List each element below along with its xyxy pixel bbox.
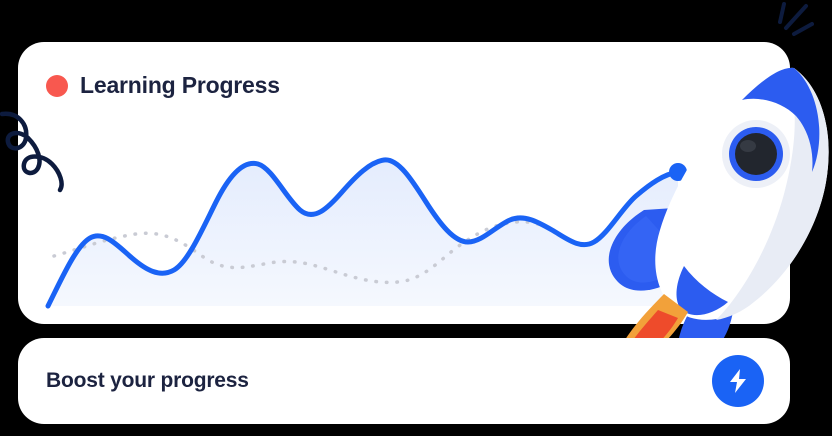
boost-label: Boost your progress bbox=[46, 369, 249, 393]
chart-area-fill bbox=[48, 160, 678, 306]
card-header: Learning Progress bbox=[46, 72, 280, 99]
boost-card: Boost your progress bbox=[18, 338, 790, 424]
chart-end-marker[interactable] bbox=[669, 163, 687, 181]
page-title: Learning Progress bbox=[80, 72, 280, 99]
chart-svg bbox=[42, 138, 766, 310]
status-dot-icon bbox=[46, 75, 68, 97]
lightning-bolt-icon bbox=[727, 368, 749, 394]
screen-root: Learning Progress bbox=[0, 0, 832, 436]
progress-chart bbox=[42, 138, 766, 310]
boost-fab-button[interactable] bbox=[712, 355, 764, 407]
learning-progress-card: Learning Progress bbox=[18, 42, 790, 324]
